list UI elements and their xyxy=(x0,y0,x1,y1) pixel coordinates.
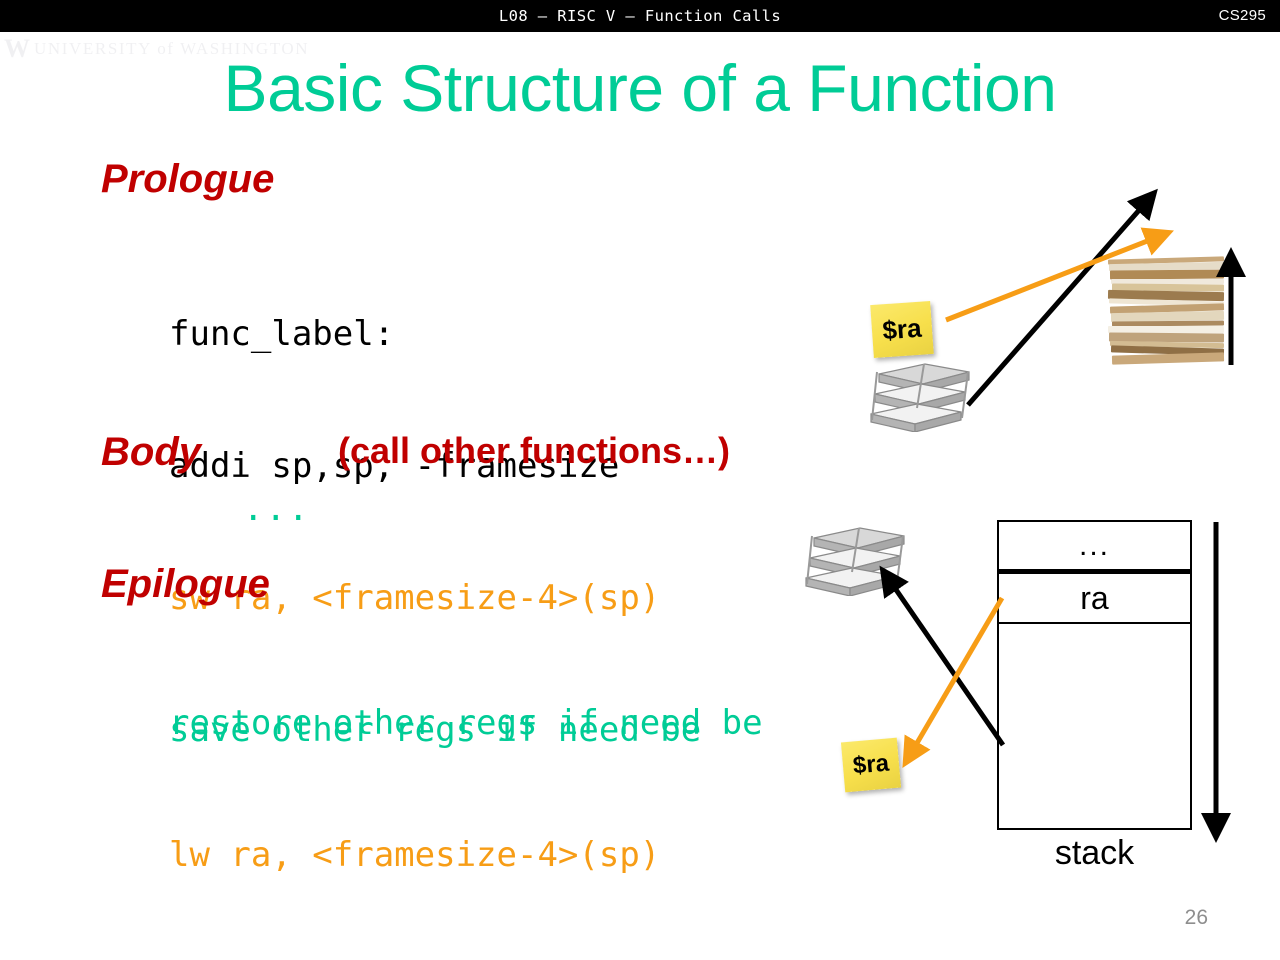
stack-label: stack xyxy=(997,834,1192,873)
stack-memory-diagram: ... ra xyxy=(997,520,1192,830)
code-line: restore other regs if need be xyxy=(169,701,763,745)
body-note-text: (call other functions…) xyxy=(338,430,730,472)
page-title: Basic Structure of a Function xyxy=(0,50,1280,126)
page-number: 26 xyxy=(1185,906,1208,930)
stack-cell-empty xyxy=(999,624,1190,821)
course-code: CS295 xyxy=(1219,0,1266,32)
letter-tray-icon xyxy=(800,522,910,596)
section-heading-body: Body xyxy=(101,430,201,475)
lecture-title: L08 – RISC V – Function Calls xyxy=(0,0,1280,32)
code-block-epilogue: restore other regs if need be lw ra, <fr… xyxy=(169,613,763,960)
section-heading-prologue: Prologue xyxy=(101,157,274,202)
paper-sheet xyxy=(1112,352,1224,364)
section-heading-epilogue: Epilogue xyxy=(101,562,270,607)
code-line: lw ra, <framesize-4>(sp) xyxy=(169,833,763,877)
paper-stack-image xyxy=(1108,258,1226,363)
sticky-note-ra: $ra xyxy=(841,738,901,793)
body-ellipsis: ... xyxy=(243,487,310,531)
letter-tray-icon xyxy=(865,358,975,432)
sticky-note-ra: $ra xyxy=(870,301,934,358)
slide-canvas: L08 – RISC V – Function Calls CS295 W UN… xyxy=(0,0,1280,960)
arrow-orange-pop xyxy=(910,598,1002,755)
stack-cell: ra xyxy=(999,574,1190,624)
arrow-black-pop xyxy=(888,578,1003,745)
stack-cell: ... xyxy=(999,522,1190,574)
code-line: func_label: xyxy=(169,312,701,356)
